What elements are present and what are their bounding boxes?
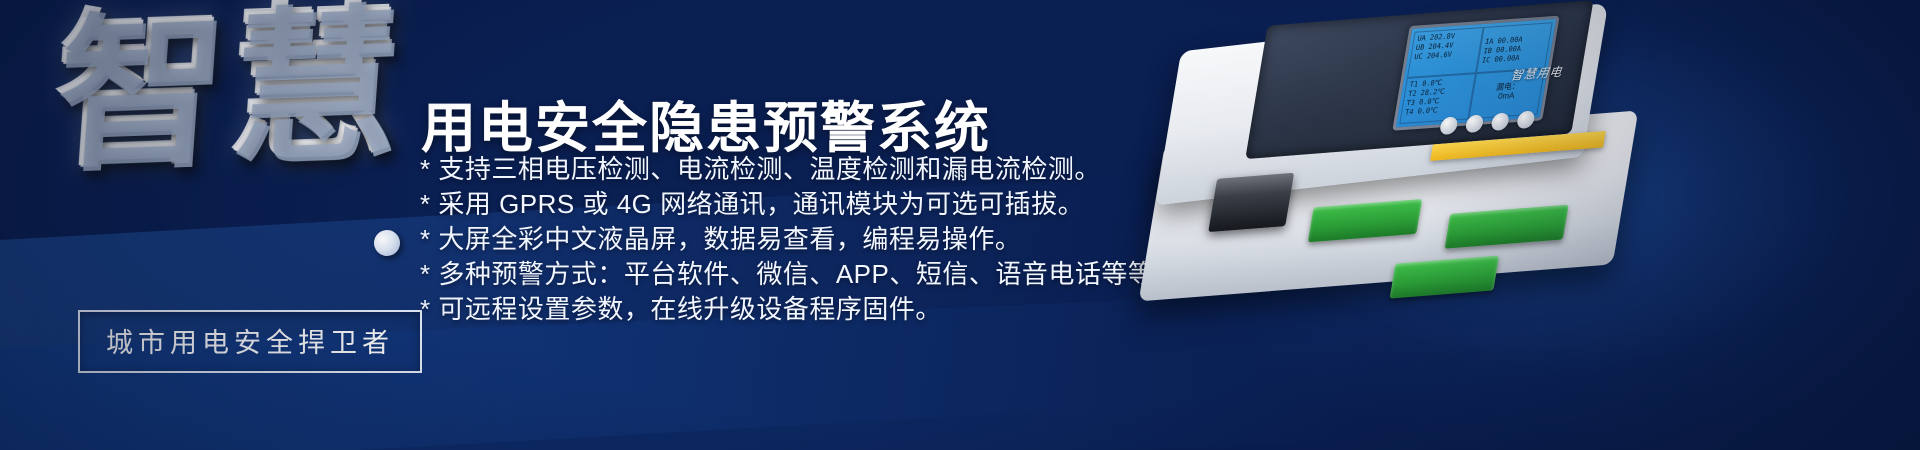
- list-item: * 可远程设置参数，在线升级设备程序固件。: [420, 292, 1181, 327]
- feature-list: * 支持三相电压检测、电流检测、温度检测和漏电流检测。 * 采用 GPRS 或 …: [420, 152, 1181, 327]
- page-title: 用电安全隐患预警系统: [421, 83, 991, 163]
- lcd-voltage-cell: UA 202.8V UB 204.4V UC 204.6V: [1407, 27, 1484, 78]
- device-black-connector: [1208, 173, 1294, 232]
- brand-logo: 智慧: [56, 12, 406, 262]
- brand-logo-text: 智慧: [50, 6, 412, 168]
- list-item: * 支持三相电压检测、电流检测、温度检测和漏电流检测。: [420, 152, 1181, 187]
- list-item: * 采用 GPRS 或 4G 网络通讯，通讯模块为可选可插拔。: [420, 187, 1181, 222]
- list-item: * 多种预警方式：平台软件、微信、APP、短信、语音电话等等。: [420, 257, 1181, 292]
- slogan-box: 城市用电安全捍卫者: [78, 310, 422, 373]
- device-button-4[interactable]: [1516, 110, 1536, 129]
- device-button-3[interactable]: [1490, 112, 1510, 131]
- device-green-terminal-3: [1390, 256, 1500, 299]
- list-item: * 大屏全彩中文液晶屏，数据易查看，编程易操作。: [420, 222, 1181, 257]
- device-button-1[interactable]: [1439, 116, 1459, 135]
- device-photo: UA 202.8V UB 204.4V UC 204.6V IA 00.00A …: [1098, 0, 1692, 371]
- banner: 智慧 城市用电安全捍卫者 用电安全隐患预警系统 * 支持三相电压检测、电流检测、…: [0, 0, 1920, 450]
- device-button-2[interactable]: [1465, 114, 1485, 133]
- brand-logo-dot: [372, 228, 402, 258]
